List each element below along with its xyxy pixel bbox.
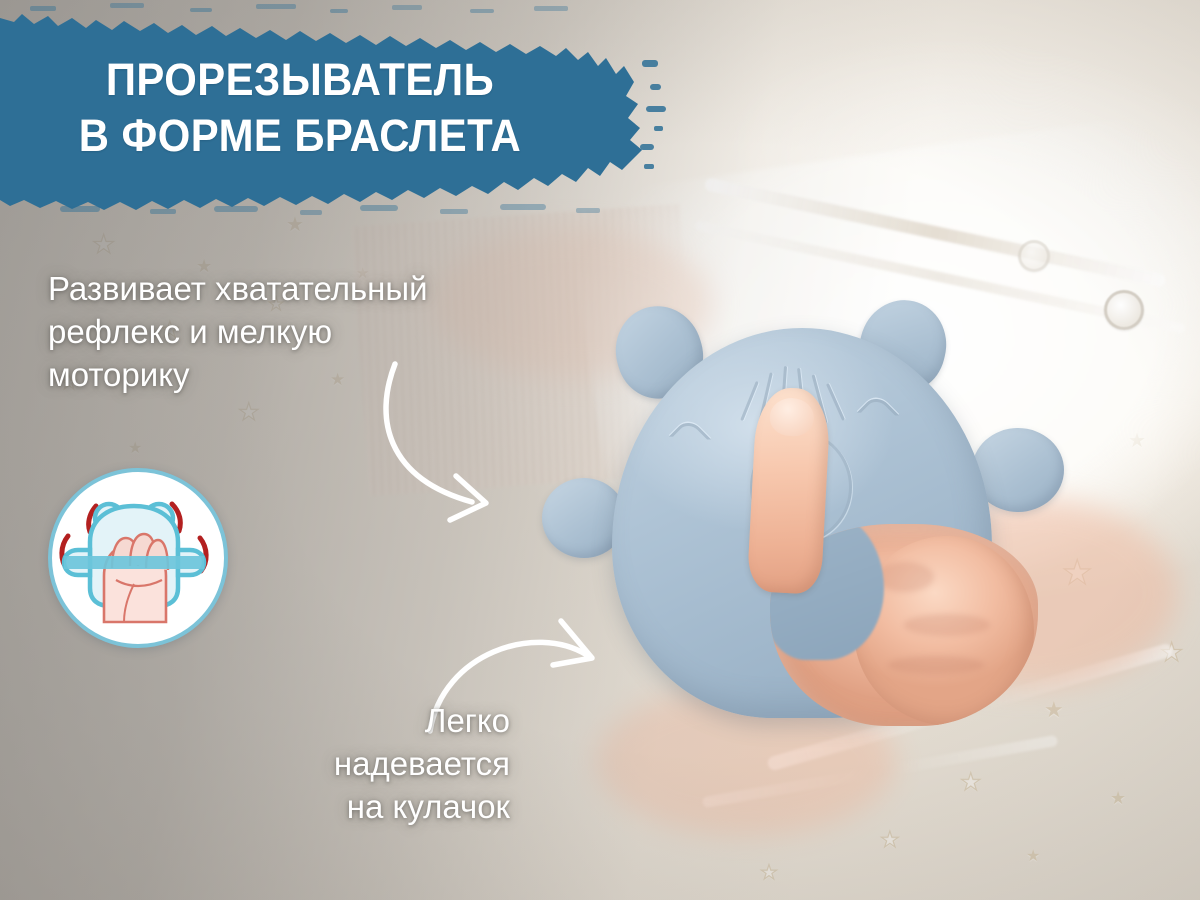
caption-line: Легко [220, 700, 510, 743]
header-banner: ПРОРЕЗЫВАТЕЛЬ В ФОРМЕ БРАСЛЕТА [0, 0, 700, 215]
banner-title-line-2: В ФОРМЕ БРАСЛЕТА [21, 108, 579, 164]
caption-line: надевается [220, 743, 510, 786]
promo-image: ★ ★ ★ ★ ★ ★ ★ ★ ★ ★ ★ ★ ★ ★ ★ ★ ★ ★ ★ ★ … [0, 0, 1200, 900]
bear-eye-right-emboss [862, 400, 894, 428]
fist-wearing-teether-icon [48, 468, 228, 648]
feature-caption-easy-fit: Легко надевается на кулачок [220, 700, 510, 829]
caption-line: моторику [48, 354, 568, 397]
caption-line: на кулачок [220, 786, 510, 829]
baby-fist [854, 536, 1034, 726]
baby-finger [747, 386, 832, 595]
banner-title-line-1: ПРОРЕЗЫВАТЕЛЬ [21, 52, 579, 108]
fingernail [769, 397, 815, 437]
badge-illustration [52, 472, 216, 636]
feature-caption-grasp-reflex: Развивает хватательный рефлекс и мелкую … [48, 268, 568, 397]
caption-line: рефлекс и мелкую [48, 311, 568, 354]
banner-title: ПРОРЕЗЫВАТЕЛЬ В ФОРМЕ БРАСЛЕТА [21, 52, 579, 164]
caption-line: Развивает хватательный [48, 268, 568, 311]
bear-eye-left-emboss [674, 424, 706, 452]
